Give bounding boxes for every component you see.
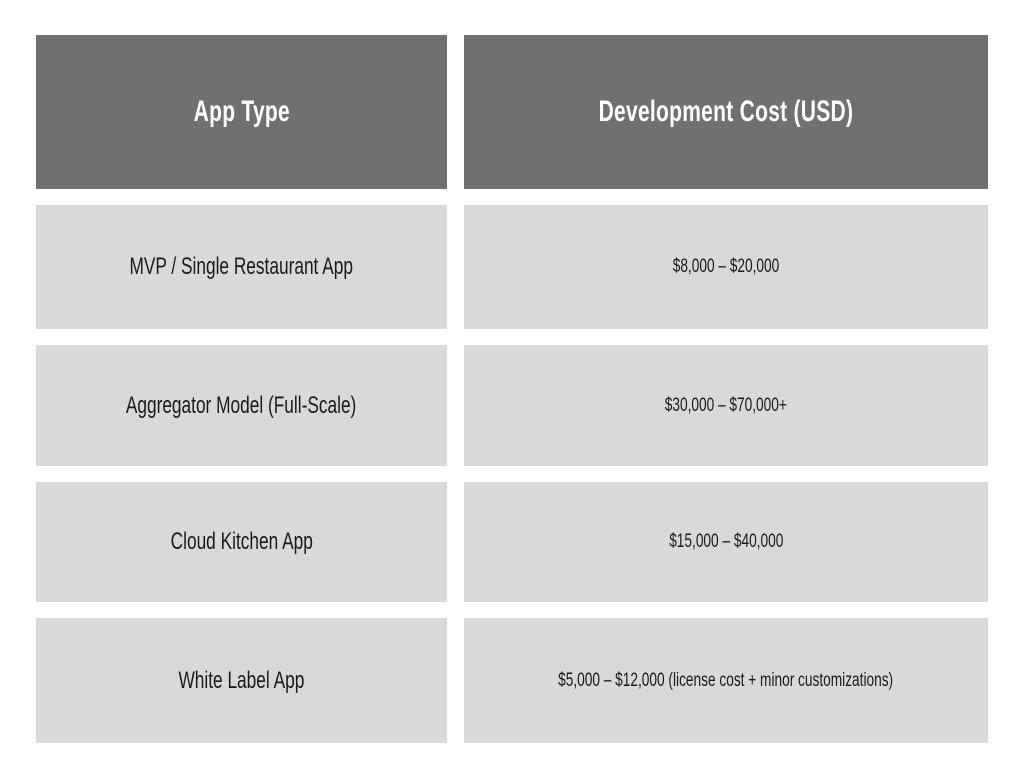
column-gutter xyxy=(447,35,464,189)
cell-app-type-value: White Label App xyxy=(179,667,305,695)
cell-development-cost-value: $5,000 – $12,000 (license cost + minor c… xyxy=(559,670,894,692)
column-gutter xyxy=(447,618,464,743)
table-row: Aggregator Model (Full-Scale) $30,000 – … xyxy=(36,345,988,466)
column-header-app-type: App Type xyxy=(36,35,447,189)
column-gutter xyxy=(447,345,464,466)
cell-development-cost: $8,000 – $20,000 xyxy=(464,205,988,329)
cell-development-cost: $5,000 – $12,000 (license cost + minor c… xyxy=(464,618,988,743)
cost-comparison-table: App Type Development Cost (USD) MVP / Si… xyxy=(36,35,988,743)
cell-app-type: MVP / Single Restaurant App xyxy=(36,205,447,329)
column-header-development-cost-label: Development Cost (USD) xyxy=(599,95,854,129)
cell-development-cost: $30,000 – $70,000+ xyxy=(464,345,988,466)
cell-app-type-value: MVP / Single Restaurant App xyxy=(130,253,353,281)
cell-development-cost-value: $30,000 – $70,000+ xyxy=(665,395,787,417)
column-gutter xyxy=(447,205,464,329)
column-header-app-type-label: App Type xyxy=(193,95,289,129)
table-row: Cloud Kitchen App $15,000 – $40,000 xyxy=(36,482,988,602)
cell-development-cost-value: $15,000 – $40,000 xyxy=(669,531,783,553)
cell-development-cost: $15,000 – $40,000 xyxy=(464,482,988,602)
table-header-row: App Type Development Cost (USD) xyxy=(36,35,988,189)
cell-app-type: Cloud Kitchen App xyxy=(36,482,447,602)
cell-development-cost-value: $8,000 – $20,000 xyxy=(673,256,780,278)
cell-app-type-value: Aggregator Model (Full-Scale) xyxy=(126,392,357,420)
table-row: MVP / Single Restaurant App $8,000 – $20… xyxy=(36,205,988,329)
cell-app-type: White Label App xyxy=(36,618,447,743)
column-header-development-cost: Development Cost (USD) xyxy=(464,35,988,189)
cell-app-type-value: Cloud Kitchen App xyxy=(170,528,312,556)
table-row: White Label App $5,000 – $12,000 (licens… xyxy=(36,618,988,743)
column-gutter xyxy=(447,482,464,602)
cell-app-type: Aggregator Model (Full-Scale) xyxy=(36,345,447,466)
